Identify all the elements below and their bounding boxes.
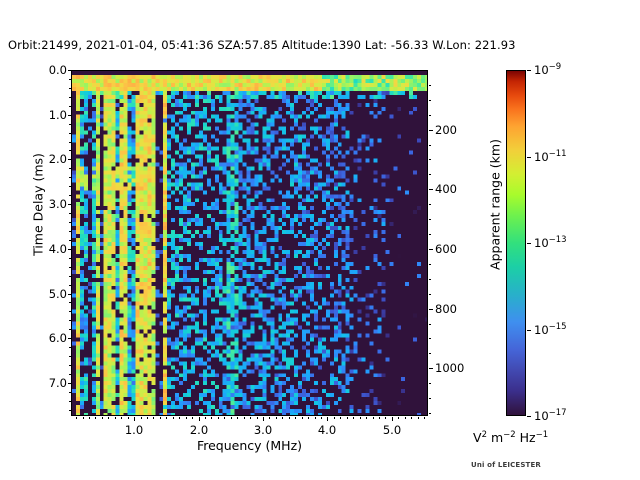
x-minor-tick	[411, 417, 412, 419]
x-minor-tick	[315, 417, 316, 419]
x-minor-tick	[398, 417, 399, 419]
y-tick	[68, 338, 72, 339]
x-minor-tick	[108, 417, 109, 419]
x-minor-tick	[257, 417, 258, 419]
y2-tick-label: 400	[435, 182, 457, 196]
y-minor-tick	[69, 186, 71, 187]
colorbar-tick-label: 10−15	[534, 322, 567, 337]
y-minor-tick	[69, 356, 71, 357]
y-minor-tick	[69, 88, 71, 89]
x-minor-tick	[141, 417, 142, 419]
x-minor-tick	[373, 417, 374, 419]
x-minor-tick	[179, 417, 180, 419]
y2-tick	[429, 368, 433, 369]
y-minor-tick	[69, 97, 71, 98]
x-minor-tick	[295, 417, 296, 419]
y-axis-label: Time Delay (ms)	[31, 105, 46, 305]
x-minor-tick	[289, 417, 290, 419]
x-minor-tick	[276, 417, 277, 419]
y-tick	[68, 115, 72, 116]
colorbar	[506, 70, 526, 416]
x-minor-tick	[83, 417, 84, 419]
y2-minor-tick	[429, 174, 431, 175]
y-minor-tick	[69, 311, 71, 312]
y-minor-tick	[69, 195, 71, 196]
y2-minor-tick	[429, 100, 431, 101]
y-minor-tick	[69, 124, 71, 125]
y2-minor-tick	[429, 398, 431, 399]
x-minor-tick	[218, 417, 219, 419]
colorbar-tick-label: 10−13	[534, 235, 567, 250]
y-minor-tick	[69, 258, 71, 259]
y-minor-tick	[69, 168, 71, 169]
y-minor-tick	[69, 177, 71, 178]
x-minor-tick	[147, 417, 148, 419]
x-minor-tick	[121, 417, 122, 419]
colorbar-unit-text: V2 m−2 Hz−1	[473, 430, 548, 445]
x-minor-tick	[353, 417, 354, 419]
x-tick	[134, 417, 135, 421]
x-minor-tick	[347, 417, 348, 419]
x-tick-label: 2.0	[179, 423, 219, 437]
y2-tick-label: 600	[435, 242, 457, 256]
y-minor-tick	[69, 267, 71, 268]
x-minor-tick	[308, 417, 309, 419]
x-minor-tick	[224, 417, 225, 419]
y-minor-tick	[69, 142, 71, 143]
y2-tick	[429, 249, 433, 250]
y-tick-label: 1.0	[49, 108, 67, 122]
y2-minor-tick	[429, 115, 431, 116]
colorbar-gradient	[507, 71, 525, 415]
x-minor-tick	[424, 417, 425, 419]
x-tick-label: 5.0	[372, 423, 412, 437]
x-minor-tick	[418, 417, 419, 419]
y-tick	[68, 70, 72, 71]
y-minor-tick	[69, 365, 71, 366]
x-tick-label: 4.0	[307, 423, 347, 437]
x-minor-tick	[211, 417, 212, 419]
y-minor-tick	[69, 285, 71, 286]
x-minor-tick	[250, 417, 251, 419]
y-minor-tick	[69, 213, 71, 214]
y-tick	[68, 294, 72, 295]
x-minor-tick	[231, 417, 232, 419]
y2-minor-tick	[429, 219, 431, 220]
y-minor-tick	[69, 392, 71, 393]
y2-minor-tick	[429, 264, 431, 265]
y2-tick	[429, 130, 433, 131]
y2-tick-label: 200	[435, 123, 457, 137]
x-tick	[327, 417, 328, 421]
y-minor-tick	[69, 320, 71, 321]
x-minor-tick	[282, 417, 283, 419]
colorbar-tick	[527, 157, 531, 158]
y-tick-label: 2.0	[49, 152, 67, 166]
y2-tick-label: 1000	[435, 361, 464, 375]
colorbar-tick	[527, 330, 531, 331]
colorbar-tick-label: 10−9	[534, 62, 561, 77]
colorbar-tick	[527, 416, 531, 417]
y2-minor-tick	[429, 324, 431, 325]
page-title: Orbit:21499, 2021-01-04, 05:41:36 SZA:57…	[8, 38, 516, 52]
x-minor-tick	[115, 417, 116, 419]
x-minor-tick	[269, 417, 270, 419]
x-minor-tick	[186, 417, 187, 419]
x-minor-tick	[385, 417, 386, 419]
y-tick	[68, 249, 72, 250]
x-minor-tick	[405, 417, 406, 419]
y2-minor-tick	[429, 383, 431, 384]
credit-label: Uni of LEICESTER	[471, 461, 541, 469]
y2-tick	[429, 189, 433, 190]
x-minor-tick	[360, 417, 361, 419]
y-tick-label: 6.0	[49, 331, 67, 345]
y-minor-tick	[69, 231, 71, 232]
x-tick-label: 1.0	[114, 423, 154, 437]
y-tick-label: 5.0	[49, 287, 67, 301]
y2-minor-tick	[429, 234, 431, 235]
y2-axis-label: Apparent range (km)	[488, 105, 503, 305]
y2-tick	[429, 309, 433, 310]
y2-minor-tick	[429, 204, 431, 205]
x-minor-tick	[160, 417, 161, 419]
y-minor-tick	[69, 133, 71, 134]
x-minor-tick	[340, 417, 341, 419]
x-tick	[199, 417, 200, 421]
y-tick-label: 7.0	[49, 376, 67, 390]
y2-minor-tick	[429, 294, 431, 295]
x-axis-label: Frequency (MHz)	[71, 438, 428, 453]
y-minor-tick	[69, 276, 71, 277]
y2-minor-tick	[429, 145, 431, 146]
y-minor-tick	[69, 222, 71, 223]
x-minor-tick	[334, 417, 335, 419]
y2-tick-label: 800	[435, 302, 457, 316]
x-minor-tick	[379, 417, 380, 419]
x-minor-tick	[166, 417, 167, 419]
x-minor-tick	[76, 417, 77, 419]
y-tick	[68, 159, 72, 160]
x-minor-tick	[89, 417, 90, 419]
x-minor-tick	[237, 417, 238, 419]
y-tick	[68, 383, 72, 384]
y2-minor-tick	[429, 279, 431, 280]
colorbar-tick-label: 10−11	[534, 149, 567, 164]
colorbar-tick-label: 10−17	[534, 408, 567, 423]
x-tick-label: 3.0	[243, 423, 283, 437]
heatmap-plot-area	[71, 70, 428, 416]
ionogram-figure: Orbit:21499, 2021-01-04, 05:41:36 SZA:57…	[0, 0, 640, 480]
x-tick	[392, 417, 393, 421]
y2-minor-tick	[429, 353, 431, 354]
y2-minor-tick	[429, 159, 431, 160]
x-minor-tick	[102, 417, 103, 419]
x-minor-tick	[302, 417, 303, 419]
y-tick-label: 0.0	[49, 63, 67, 77]
colorbar-tick	[527, 243, 531, 244]
y-minor-tick	[69, 410, 71, 411]
x-minor-tick	[153, 417, 154, 419]
colorbar-unit-label: V2 m−2 Hz−1	[473, 430, 548, 445]
y-minor-tick	[69, 79, 71, 80]
x-minor-tick	[321, 417, 322, 419]
y-minor-tick	[69, 240, 71, 241]
x-tick	[263, 417, 264, 421]
y-tick	[68, 204, 72, 205]
x-minor-tick	[244, 417, 245, 419]
x-minor-tick	[192, 417, 193, 419]
y-tick-label: 3.0	[49, 197, 67, 211]
y-minor-tick	[69, 329, 71, 330]
x-minor-tick	[95, 417, 96, 419]
y-minor-tick	[69, 374, 71, 375]
y-tick-label: 4.0	[49, 242, 67, 256]
y-minor-tick	[69, 401, 71, 402]
x-minor-tick	[128, 417, 129, 419]
y2-minor-tick	[429, 413, 431, 414]
y-minor-tick	[69, 302, 71, 303]
x-minor-tick	[173, 417, 174, 419]
heatmap-canvas	[72, 71, 428, 416]
y2-minor-tick	[429, 85, 431, 86]
x-minor-tick	[366, 417, 367, 419]
y-minor-tick	[69, 150, 71, 151]
x-minor-tick	[205, 417, 206, 419]
colorbar-tick	[527, 70, 531, 71]
y2-minor-tick	[429, 338, 431, 339]
y-minor-tick	[69, 106, 71, 107]
y-minor-tick	[69, 347, 71, 348]
